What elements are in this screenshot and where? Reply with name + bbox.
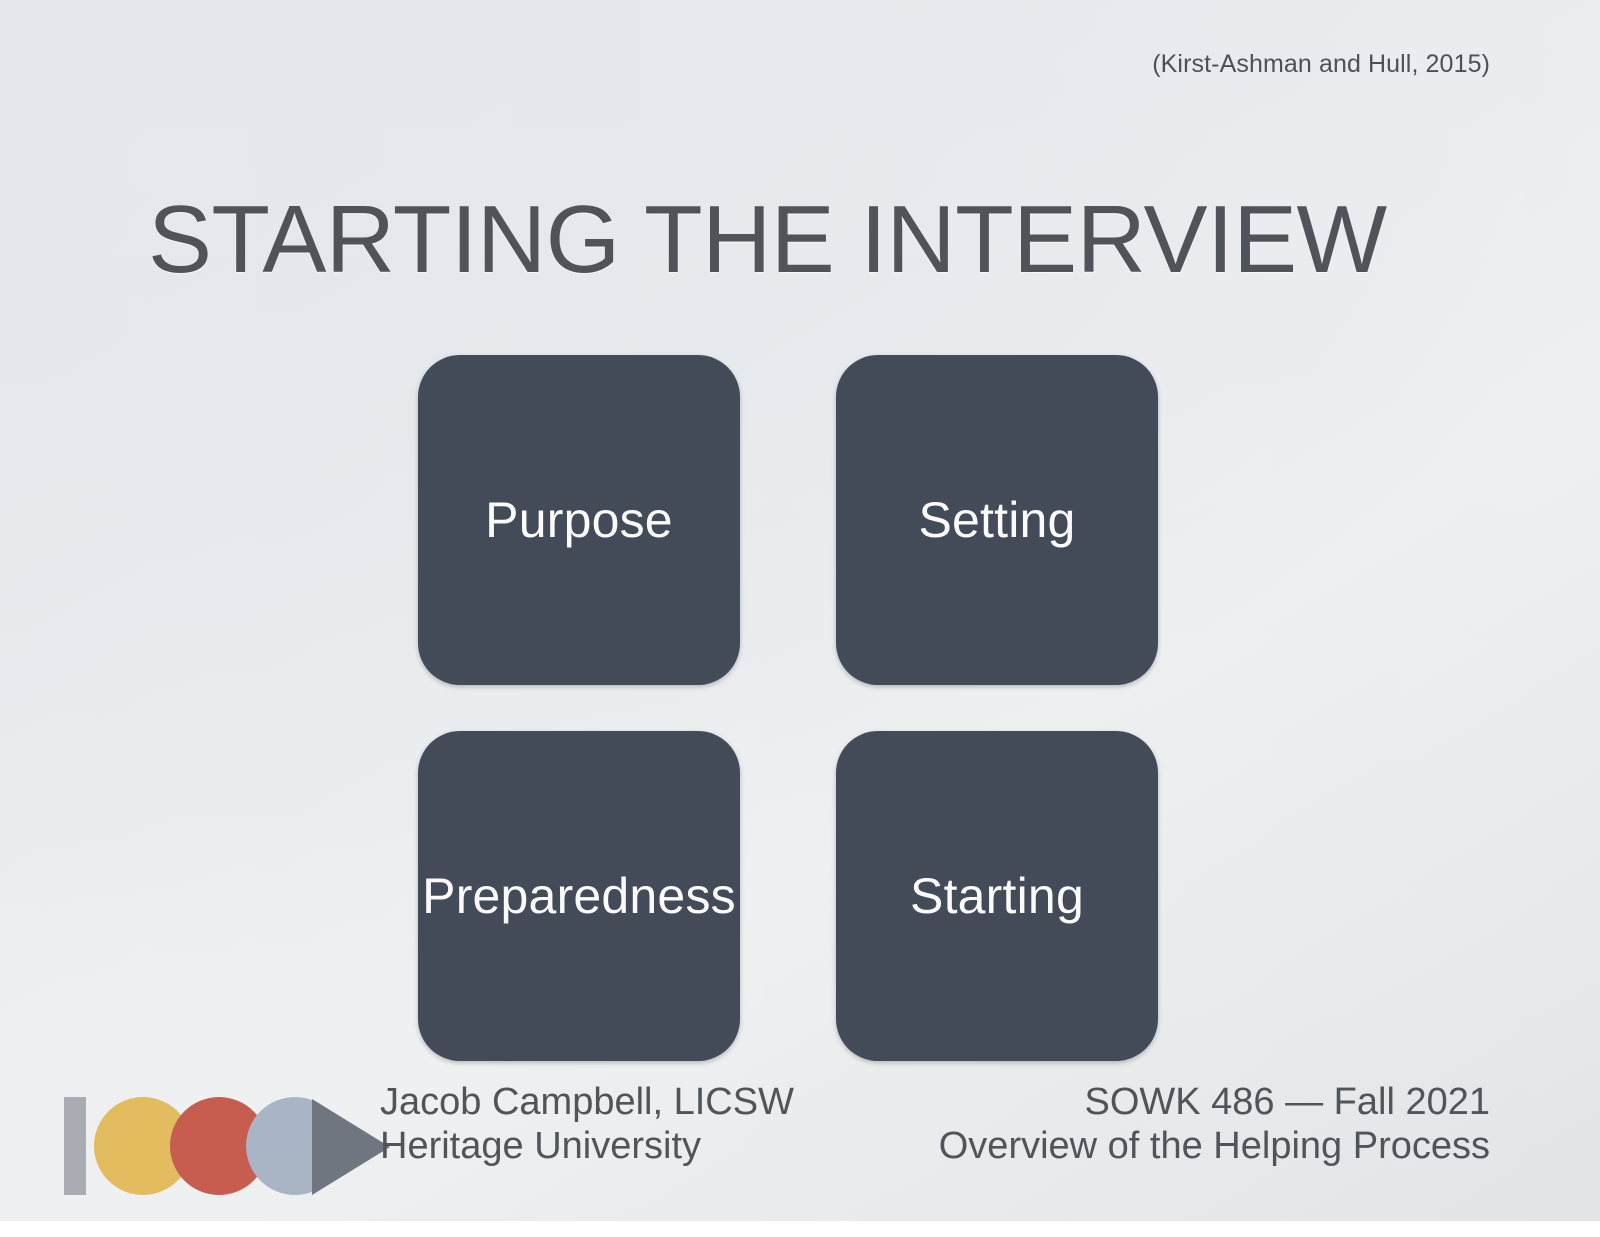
concept-box-starting[interactable]: Starting: [836, 731, 1158, 1061]
concept-box-preparedness[interactable]: Preparedness: [418, 731, 740, 1061]
slide-canvas: (Kirst-Ashman and Hull, 2015) STARTING T…: [0, 0, 1600, 1221]
logo-play-triangle-icon: [312, 1099, 390, 1195]
concept-box-grid: Purpose Setting Preparedness Starting: [418, 355, 1158, 1061]
concept-box-label: Purpose: [485, 494, 673, 547]
course-topic: Overview of the Helping Process: [939, 1124, 1490, 1168]
heritage-logo: [64, 1097, 374, 1197]
presenter-institution: Heritage University: [380, 1124, 794, 1168]
concept-box-setting[interactable]: Setting: [836, 355, 1158, 685]
course-code-term: SOWK 486 — Fall 2021: [939, 1080, 1490, 1124]
course-info: SOWK 486 — Fall 2021 Overview of the Hel…: [939, 1080, 1490, 1168]
page-title: STARTING THE INTERVIEW: [148, 192, 1480, 288]
presenter-info: Jacob Campbell, LICSW Heritage Universit…: [380, 1080, 794, 1168]
concept-box-purpose[interactable]: Purpose: [418, 355, 740, 685]
presenter-name: Jacob Campbell, LICSW: [380, 1080, 794, 1124]
logo-bar-icon: [64, 1097, 86, 1195]
concept-box-label: Preparedness: [422, 870, 736, 923]
concept-box-label: Setting: [918, 494, 1075, 547]
citation-text: (Kirst-Ashman and Hull, 2015): [1152, 50, 1490, 79]
concept-box-label: Starting: [910, 870, 1084, 923]
